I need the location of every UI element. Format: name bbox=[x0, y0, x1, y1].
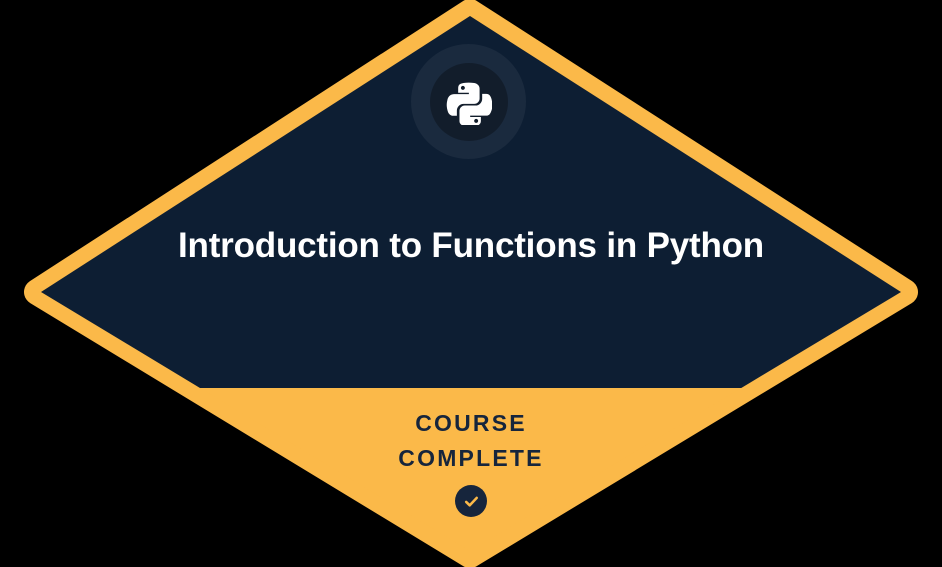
completion-check-badge bbox=[455, 485, 487, 517]
status-label-line-1: COURSE bbox=[171, 406, 771, 441]
logo-inner-ring bbox=[430, 63, 508, 141]
python-logo-medallion bbox=[411, 44, 526, 159]
course-title: Introduction to Functions in Python bbox=[171, 222, 771, 269]
course-status-block: COURSE COMPLETE bbox=[171, 406, 771, 517]
python-logo-icon bbox=[446, 79, 492, 125]
course-completion-badge: Introduction to Functions in Python COUR… bbox=[0, 0, 942, 567]
check-icon bbox=[463, 493, 480, 510]
status-label-line-2: COMPLETE bbox=[171, 441, 771, 476]
